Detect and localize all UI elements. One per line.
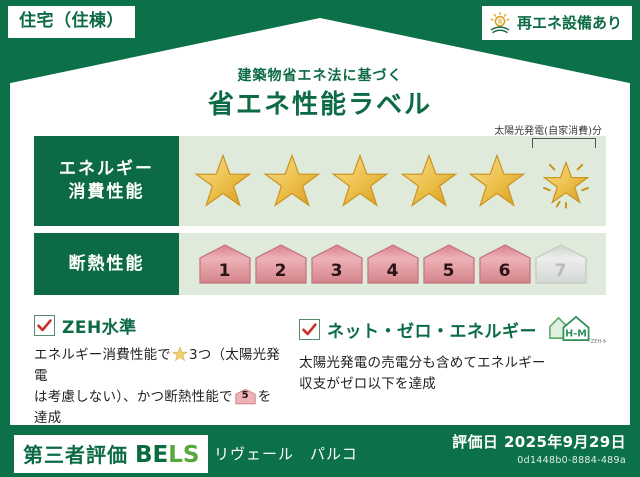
label-panel: 建築物省エネ法に基づく 省エネ性能ラベル エネルギー 消費性能 太陽光発電(自家… [10, 18, 630, 425]
checkbox-checked-icon [34, 315, 55, 336]
insulation-level-2: 2 [254, 242, 308, 286]
insulation-level-7: 7 [534, 242, 588, 286]
note-zeh-header: ZEH水準 [34, 313, 285, 338]
evaluation-info: 評価日 2025年9月29日 0d1448b0-8884-489a [452, 431, 626, 466]
ratings-container: エネルギー 消費性能 太陽光発電(自家消費)分 [34, 136, 606, 302]
page-title: 省エネ性能ラベル [10, 89, 630, 122]
energy-stars-cell: 太陽光発電(自家消費)分 [179, 136, 606, 226]
star-rating [183, 152, 606, 210]
insulation-level-4-number: 4 [366, 261, 420, 281]
bels-logo-light: LS [168, 442, 199, 468]
insulation-level-scale: 1 2 3 [179, 242, 606, 286]
energy-performance-label: 住宅（住棟） 電 再エネ設備あり 建築物省エネ法に基づく [0, 0, 640, 477]
star-filled-4 [400, 152, 458, 210]
insulation-level-6-number: 6 [478, 261, 532, 281]
bels-logo: BELS [135, 442, 199, 468]
note-zeh: ZEH水準 エネルギー消費性能で3つ（太陽光発電は考慮しない）、かつ断熱性能で5… [34, 313, 285, 429]
insulation-levels-cell: 1 2 3 [179, 233, 606, 295]
insulation-level-5: 5 [422, 242, 476, 286]
energy-performance-label-cell: エネルギー 消費性能 [34, 136, 179, 226]
evaluation-date: 評価日 2025年9月29日 [452, 431, 626, 452]
evaluation-date-value: 2025年9月29日 [504, 433, 626, 451]
insulation-level-3: 3 [310, 242, 364, 286]
note-net-zero-body: 太陽光発電の売電分も含めてエネルギー収支がゼロ以下を達成 [299, 353, 606, 395]
insulation-level-5-number: 5 [422, 261, 476, 281]
note-net-zero: ネット・ゼロ・エネルギー H-M 「ZEH-M」 太陽光発電の売電分も含めてエネ… [299, 313, 606, 429]
star-filled-2 [263, 152, 321, 210]
energy-performance-row: エネルギー 消費性能 太陽光発電(自家消費)分 [34, 136, 606, 226]
star-solar-6 [537, 152, 595, 210]
solar-star-bracket [532, 138, 596, 148]
inline-star-icon [172, 346, 188, 362]
solar-sun-icon: 電 [488, 11, 512, 35]
insulation-level-2-number: 2 [254, 261, 308, 281]
note-net-zero-line2: 収支がゼロ以下を達成 [299, 376, 436, 392]
inline-house-icon: 5 [235, 388, 256, 405]
insulation-label: 断熱性能 [69, 253, 145, 276]
insulation-level-1-number: 1 [198, 261, 252, 281]
title-subtitle: 建築物省エネ法に基づく [10, 68, 630, 85]
note-net-zero-line1: 太陽光発電の売電分も含めてエネルギー [299, 355, 546, 371]
renewable-badge-label: 再エネ設備あり [517, 16, 622, 31]
insulation-performance-row: 断熱性能 [34, 233, 606, 295]
energy-label-line1: エネルギー [59, 158, 154, 181]
title-block: 建築物省エネ法に基づく 省エネ性能ラベル [10, 68, 630, 121]
bels-badge: 第三者評価 BELS [14, 435, 208, 473]
renewable-equipment-badge: 電 再エネ設備あり [482, 6, 632, 40]
note-zeh-text-2: は考慮しない）、かつ断熱性能で [34, 389, 233, 405]
building-name: リヴェール パルコ [214, 443, 358, 464]
energy-label-line2: 消費性能 [69, 181, 145, 204]
building-type-tag: 住宅（住棟） [8, 6, 135, 38]
footer: 第三者評価 BELS リヴェール パルコ 評価日 2025年9月29日 0d14… [0, 425, 640, 477]
evaluation-date-label: 評価日 [452, 433, 498, 451]
checkbox-checked-icon [299, 319, 320, 340]
svg-text:電: 電 [497, 19, 503, 26]
insulation-level-6: 6 [478, 242, 532, 286]
svg-text:「ZEH-M」: 「ZEH-M」 [585, 338, 606, 345]
note-zeh-title: ZEH水準 [62, 313, 137, 338]
insulation-level-1: 1 [198, 242, 252, 286]
insulation-performance-label-cell: 断熱性能 [34, 233, 179, 295]
note-zeh-body: エネルギー消費性能で3つ（太陽光発電は考慮しない）、かつ断熱性能で5を達成 [34, 345, 285, 429]
note-net-zero-title: ネット・ゼロ・エネルギー [327, 317, 537, 342]
notes-container: ZEH水準 エネルギー消費性能で3つ（太陽光発電は考慮しない）、かつ断熱性能で5… [34, 313, 606, 429]
note-net-zero-header: ネット・ゼロ・エネルギー H-M 「ZEH-M」 [299, 313, 606, 346]
insulation-level-4: 4 [366, 242, 420, 286]
third-party-label: 第三者評価 [23, 439, 128, 468]
star-filled-1 [194, 152, 252, 210]
svg-text:H-M: H-M [565, 328, 587, 339]
insulation-level-3-number: 3 [310, 261, 364, 281]
solar-star-caption: 太陽光発電(自家消費)分 [412, 122, 602, 137]
bels-logo-dark: BE [135, 442, 168, 468]
note-zeh-text-1: エネルギー消費性能で [34, 347, 171, 363]
inline-house-level: 5 [235, 388, 256, 404]
zeh-m-mark-icon: H-M 「ZEH-M」 [546, 313, 606, 346]
insulation-level-7-number: 7 [534, 261, 588, 281]
evaluation-id: 0d1448b0-8884-489a [452, 455, 626, 466]
star-filled-5 [468, 152, 526, 210]
star-filled-3 [331, 152, 389, 210]
